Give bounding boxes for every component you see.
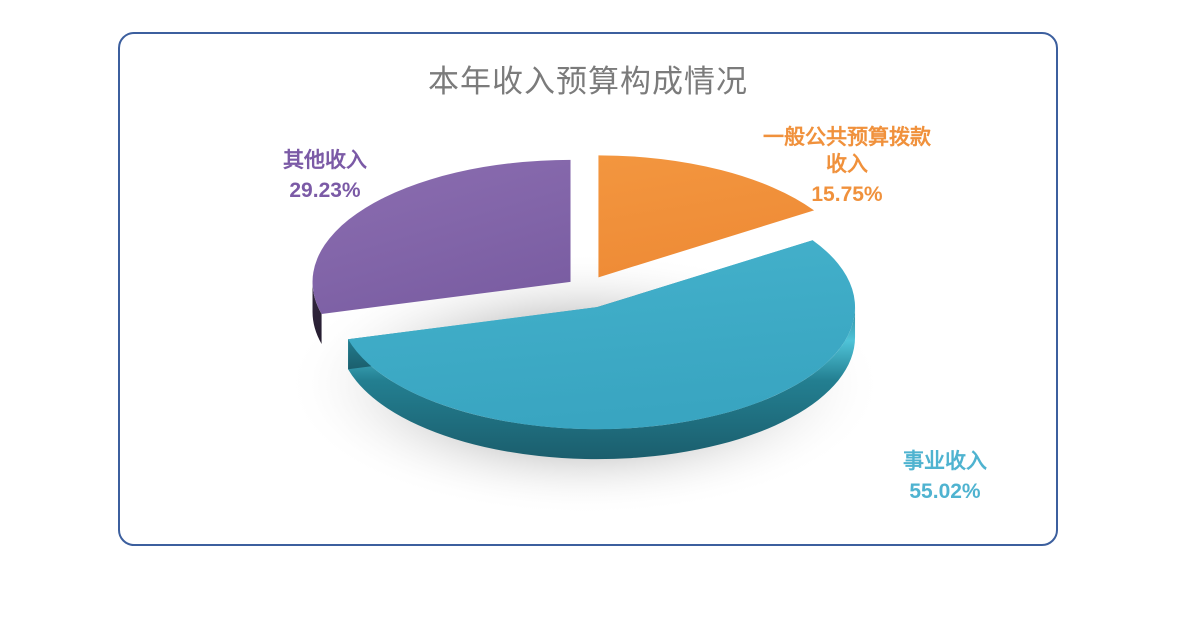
pie-label-other-name: 其他收入 [230,148,420,175]
pie-label-general: 一般公共预算拨款收入 15.75% [732,125,962,209]
pie-label-business-name: 事业收入 [840,449,1050,476]
pie-label-general-percent: 15.75% [732,182,962,209]
pie-chart: 一般公共预算拨款收入 15.75% 其他收入 29.23% 事业收入 55.02… [120,34,1060,548]
pie-label-other-percent: 29.23% [230,178,420,205]
pie-label-business: 事业收入 55.02% [840,449,1050,506]
chart-card: 本年收入预算构成情况 [118,32,1058,546]
pie-label-business-percent: 55.02% [840,479,1050,506]
pie-label-other: 其他收入 29.23% [230,148,420,205]
pie-label-general-name: 一般公共预算拨款收入 [756,125,938,179]
